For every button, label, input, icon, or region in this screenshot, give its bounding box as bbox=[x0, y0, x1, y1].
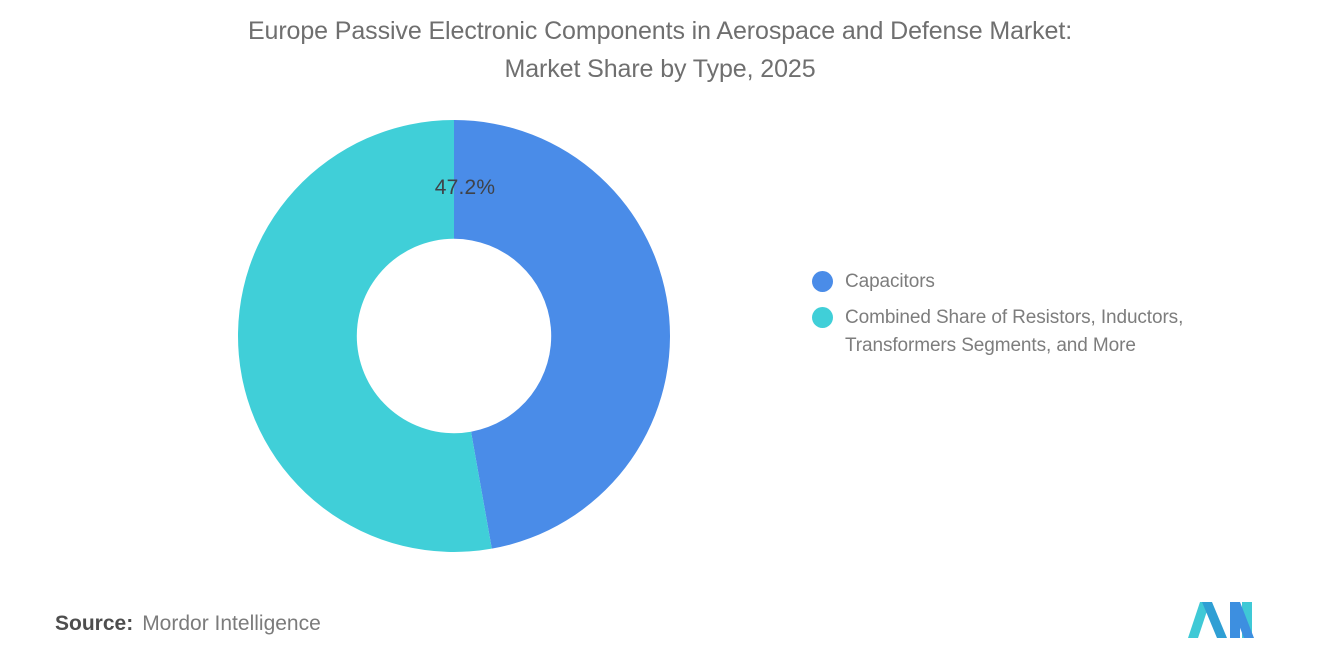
legend-swatch-combined-share bbox=[812, 307, 833, 328]
source-label: Source: bbox=[55, 612, 133, 636]
logo-stroke-2 bbox=[1202, 602, 1227, 638]
chart-legend: Capacitors Combined Share of Resistors, … bbox=[812, 268, 1282, 368]
source-value: Mordor Intelligence bbox=[142, 612, 321, 636]
legend-swatch-capacitors bbox=[812, 271, 833, 292]
chart-title: Europe Passive Electronic Components in … bbox=[110, 12, 1210, 88]
legend-label-combined-share: Combined Share of Resistors, Inductors, … bbox=[845, 304, 1183, 360]
source-line: Source: Mordor Intelligence bbox=[55, 612, 321, 636]
legend-label-capacitors: Capacitors bbox=[845, 268, 935, 296]
legend-item-combined-share[interactable]: Combined Share of Resistors, Inductors, … bbox=[812, 304, 1282, 360]
mordor-intelligence-logo bbox=[1186, 598, 1258, 640]
slice-data-label-capacitors: 47.2% bbox=[403, 176, 527, 200]
legend-item-capacitors[interactable]: Capacitors bbox=[812, 268, 1282, 296]
